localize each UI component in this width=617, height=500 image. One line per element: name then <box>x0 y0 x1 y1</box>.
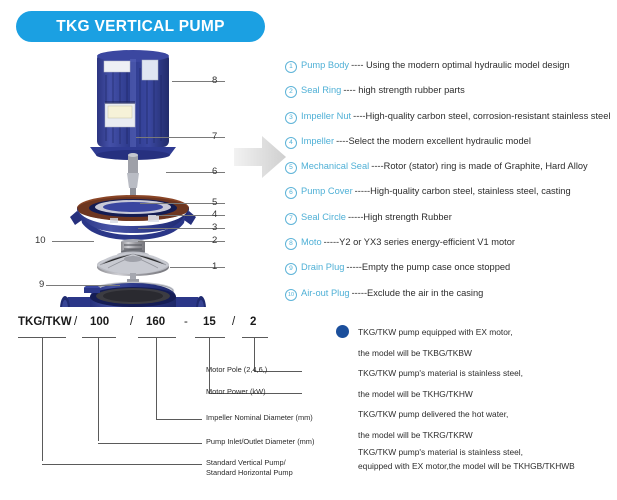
part-description: ----Select the modern excellent hydrauli… <box>336 136 531 147</box>
exploded-pump-diagram <box>20 45 260 307</box>
callout-number-5: 5 <box>212 197 217 208</box>
variant-line: TKG/TKW pump's material is stainless ste… <box>336 363 611 384</box>
part-number-badge: 9 <box>285 263 297 275</box>
part-name: Mechanical Seal <box>301 161 369 172</box>
leader-9 <box>46 285 120 286</box>
leader-horizontal-inlet <box>98 443 202 444</box>
callout-number-4: 4 <box>212 209 217 220</box>
air-out-plug-part <box>84 285 100 293</box>
model-separator: / <box>74 316 77 328</box>
part-description: -----High strength Rubber <box>348 212 452 223</box>
part-description: -----Exclude the air in the casing <box>352 288 484 299</box>
motor-part <box>90 50 176 160</box>
right-arrow-icon <box>234 134 286 180</box>
part-description: ----Rotor (stator) ring is made of Graph… <box>371 161 587 172</box>
model-separator: / <box>232 316 235 328</box>
model-token-inlet: 100 <box>90 316 109 328</box>
part-name: Moto <box>301 237 322 248</box>
part-name: Seal Circle <box>301 212 346 223</box>
part-name: Impeller <box>301 136 334 147</box>
leader-horizontal-impeller <box>156 419 202 420</box>
model-separator: - <box>184 316 188 328</box>
model-separator: / <box>130 316 133 328</box>
leader-vertical-impeller <box>156 337 157 419</box>
variant-line: the model will be TKRG/TKRW <box>336 425 611 446</box>
part-name: Pump Body <box>301 60 349 71</box>
variant-line: TKG/TKW pump delivered the hot water, <box>336 404 611 425</box>
model-code-breakdown: TKG/TKW 100 160 15 2 / / - / Motor Pole … <box>10 316 330 496</box>
part-row: 8 Moto -----Y2 or YX3 series energy-effi… <box>285 237 615 262</box>
callout-number-8: 8 <box>212 75 217 86</box>
part-number-badge: 8 <box>285 238 297 250</box>
token-underline <box>242 337 268 338</box>
page-title-banner: TKG VERTICAL PUMP <box>16 11 265 42</box>
model-label-series-2: Standard Horizontal Pump <box>206 468 293 479</box>
callout-number-6: 6 <box>212 166 217 177</box>
part-description: -----Y2 or YX3 series energy-efficient V… <box>324 237 515 248</box>
blue-dot-icon <box>336 325 349 338</box>
part-number-badge: 2 <box>285 86 297 98</box>
part-name: Seal Ring <box>301 85 341 96</box>
model-variant-notes: TKG/TKW pump equipped with EX motor, the… <box>336 322 611 474</box>
pump-cover-part <box>70 195 196 240</box>
model-label-inlet: Pump Inlet/Outlet Diameter (mm) <box>206 437 314 448</box>
leader-horizontal-series <box>42 464 202 465</box>
part-row: 3 Impeller Nut ----High-quality carbon s… <box>285 111 615 136</box>
part-number-badge: 6 <box>285 187 297 199</box>
model-label-power: Motor Power (kW) <box>206 387 266 398</box>
part-row: 10 Air-out Plug -----Exclude the air in … <box>285 288 615 313</box>
parts-description-list: 1 Pump Body ---- Using the modern optima… <box>285 60 615 313</box>
part-number-badge: 3 <box>285 112 297 124</box>
part-row: 6 Pump Cover -----High-quality carbon st… <box>285 186 615 211</box>
callout-number-3: 3 <box>212 222 217 233</box>
part-number-badge: 10 <box>285 289 297 301</box>
pump-body-part <box>60 283 206 307</box>
callout-number-1: 1 <box>212 261 217 272</box>
part-row: 1 Pump Body ---- Using the modern optima… <box>285 60 615 85</box>
part-row: 4 Impeller ----Select the modern excelle… <box>285 136 615 161</box>
variant-line: TKG/TKW pump equipped with EX motor, <box>336 322 611 343</box>
part-name: Impeller Nut <box>301 111 351 122</box>
page-title: TKG VERTICAL PUMP <box>56 18 224 36</box>
part-name: Air-out Plug <box>301 288 350 299</box>
model-label-impeller: Impeller Nominal Diameter (mm) <box>206 413 313 424</box>
part-description: ---- Using the modern optimal hydraulic … <box>351 60 570 71</box>
callout-number-2: 2 <box>212 235 217 246</box>
part-number-badge: 5 <box>285 162 297 174</box>
page-root: TKG VERTICAL PUMP <box>0 0 617 500</box>
variant-line: the model will be TKHG/TKHW <box>336 384 611 405</box>
part-number-badge: 4 <box>285 137 297 149</box>
part-row: 9 Drain Plug -----Empty the pump case on… <box>285 262 615 287</box>
variant-line: TKG/TKW pump's material is stainless ste… <box>336 446 611 460</box>
model-token-pole: 2 <box>250 316 256 328</box>
variant-line: the model will be TKBG/TKBW <box>336 343 611 364</box>
part-description: -----High-quality carbon steel, stainles… <box>355 186 571 197</box>
shaft-part <box>127 153 139 198</box>
part-row: 7 Seal Circle -----High strength Rubber <box>285 212 615 237</box>
variant-line: equipped with EX motor,the model will be… <box>336 460 611 474</box>
callout-number-9: 9 <box>39 279 44 290</box>
token-underline <box>82 337 116 338</box>
part-number-badge: 1 <box>285 61 297 73</box>
callout-number-10: 10 <box>35 235 46 246</box>
model-token-impeller: 160 <box>146 316 165 328</box>
part-name: Pump Cover <box>301 186 353 197</box>
part-description: ----High-quality carbon steel, corrosion… <box>353 111 610 122</box>
part-row: 2 Seal Ring ---- high strength rubber pa… <box>285 85 615 110</box>
model-token-power: 15 <box>203 316 216 328</box>
impeller-part <box>97 253 169 279</box>
part-row: 5 Mechanical Seal ----Rotor (stator) rin… <box>285 161 615 186</box>
leader-10 <box>52 241 94 242</box>
part-number-badge: 7 <box>285 213 297 225</box>
model-label-pole: Motor Pole (2,4,6,) <box>206 365 267 376</box>
callout-number-7: 7 <box>212 131 217 142</box>
part-description: -----Empty the pump case once stopped <box>346 262 510 273</box>
part-description: ---- high strength rubber parts <box>343 85 464 96</box>
leader-vertical-series <box>42 337 43 461</box>
model-token-series: TKG/TKW <box>18 316 72 328</box>
leader-vertical-inlet <box>98 337 99 441</box>
token-underline <box>195 337 225 338</box>
part-name: Drain Plug <box>301 262 344 273</box>
token-underline <box>138 337 176 338</box>
